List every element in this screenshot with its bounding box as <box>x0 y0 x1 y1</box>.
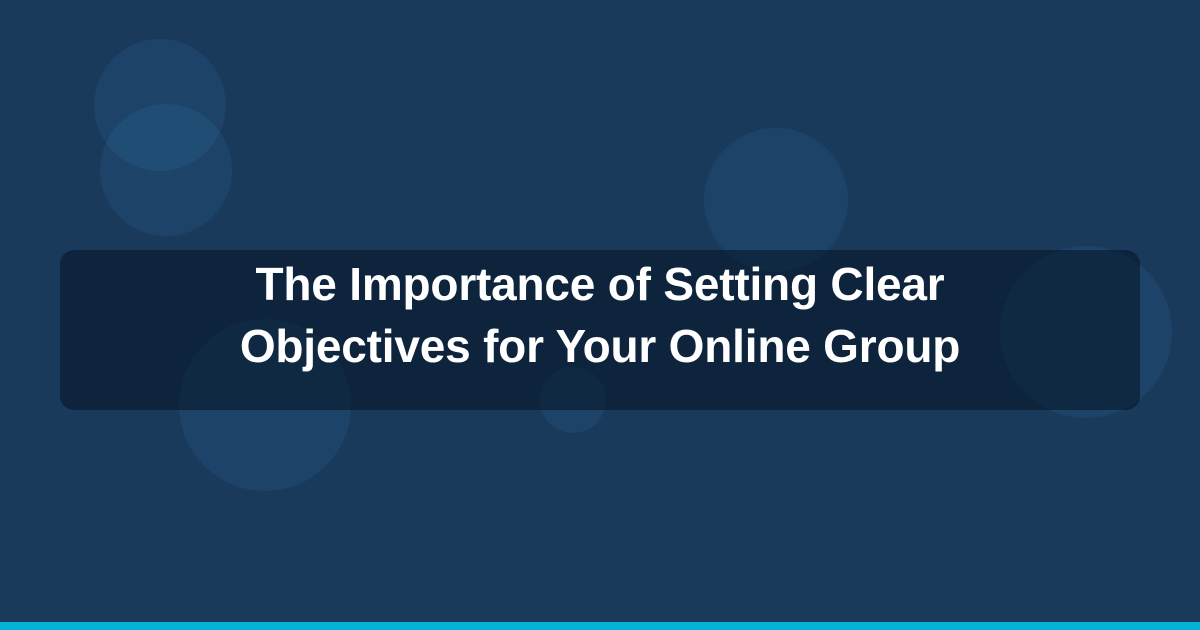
page-title: The Importance of Setting Clear Objectiv… <box>205 253 995 377</box>
social-share-card: The Importance of Setting Clear Objectiv… <box>0 0 1200 630</box>
accent-bar <box>0 622 1200 630</box>
title-container: The Importance of Setting Clear Objectiv… <box>0 0 1200 630</box>
